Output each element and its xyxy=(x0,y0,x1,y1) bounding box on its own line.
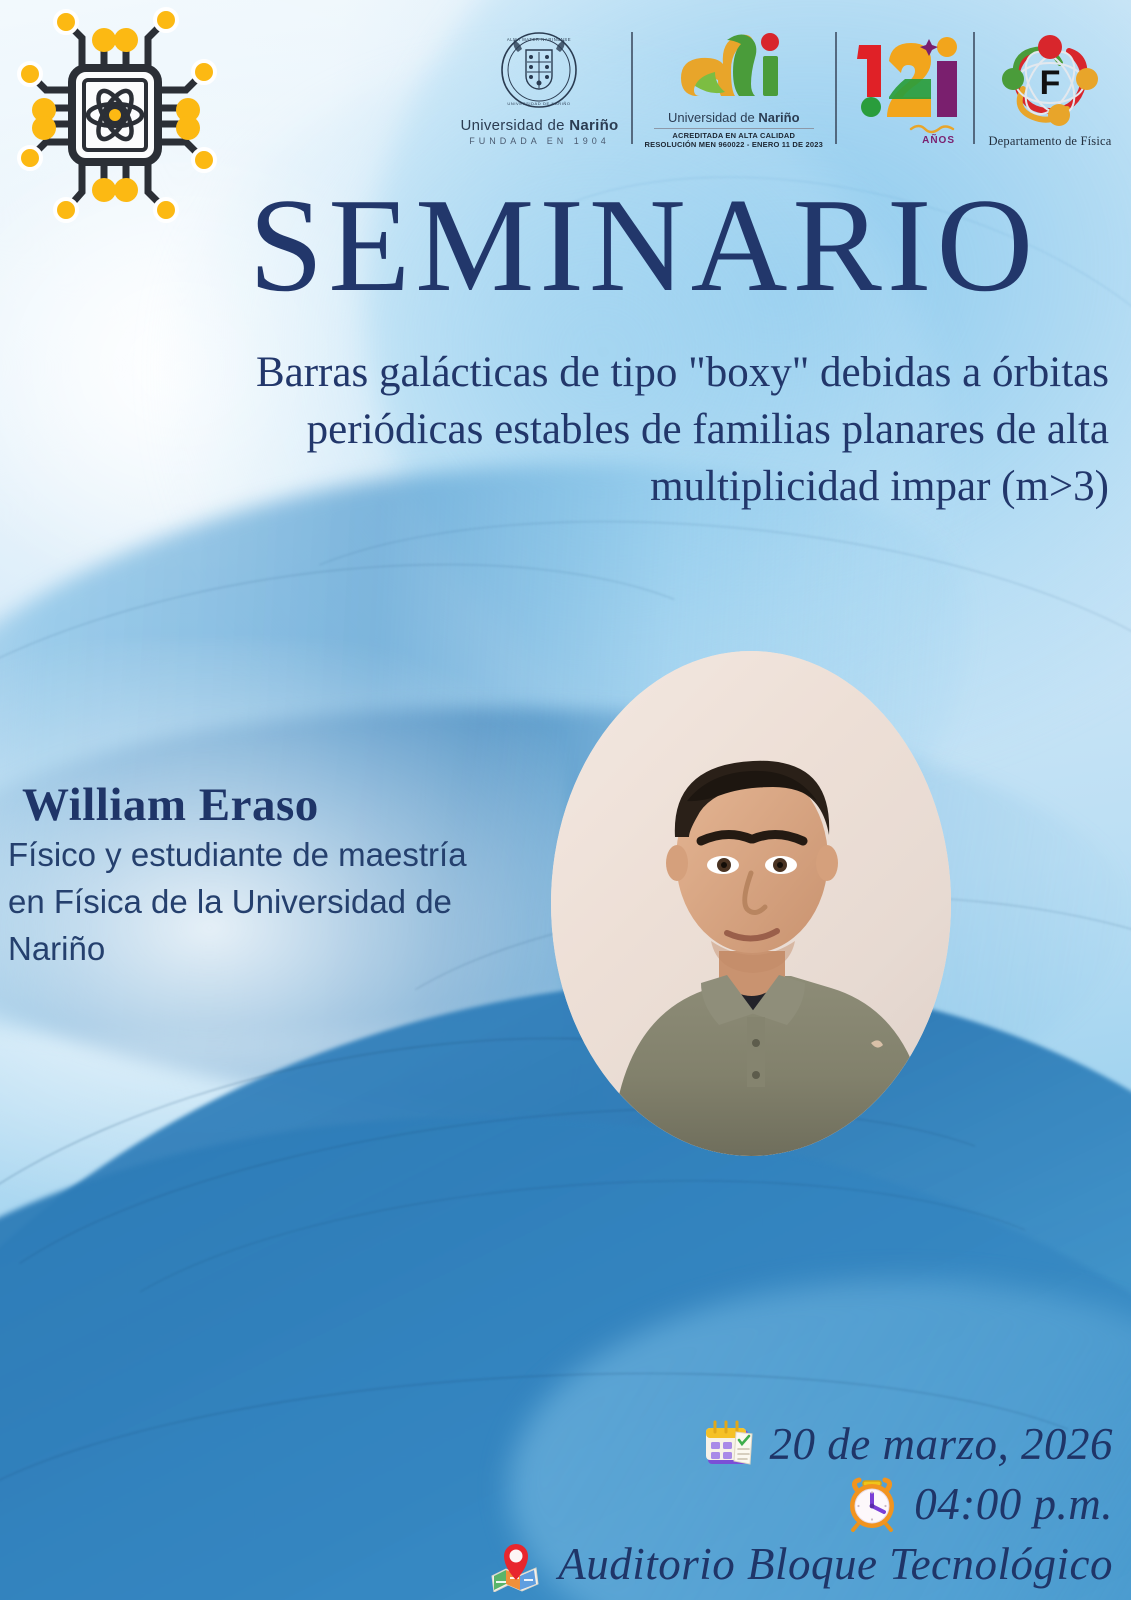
speaker-photo xyxy=(551,651,951,1156)
anniversary-years-label: AÑOS xyxy=(922,135,955,146)
microchip-atom-icon xyxy=(6,4,256,224)
event-time-text: 04:00 p.m. xyxy=(914,1478,1113,1530)
physics-department-logo: F Departamento de Física xyxy=(975,8,1125,168)
speaker-portrait-illustration xyxy=(551,651,951,1156)
crest-name-bold: Nariño xyxy=(569,117,618,134)
physics-atom-icon: F xyxy=(987,27,1113,133)
event-location-row: Auditorio Bloque Tecnológico xyxy=(488,1536,1113,1592)
accreditation-logo: Universidad de Nariño ACREDITADA EN ALTA… xyxy=(633,8,835,168)
seminar-poster: ALMA MATER NARIÑENSE UNIVERSIDAD DE NARI… xyxy=(0,0,1131,1600)
logo-bar: ALMA MATER NARIÑENSE UNIVERSIDAD DE NARI… xyxy=(0,0,1131,175)
121-anniversary-icon xyxy=(849,31,961,139)
accreditation-name-light: Universidad xyxy=(668,110,740,125)
event-time-row: 04:00 p.m. xyxy=(844,1476,1113,1532)
subtitle-line: multiplicidad impar (m>3) xyxy=(95,459,1109,516)
svg-text:ALMA MATER NARIÑENSE: ALMA MATER NARIÑENSE xyxy=(507,37,571,42)
subtitle-line: periódicas estables de familias planares… xyxy=(95,402,1109,459)
anniversary-logo: AÑOS xyxy=(837,8,973,168)
svg-text:UNIVERSIDAD DE NARIÑO: UNIVERSIDAD DE NARIÑO xyxy=(508,101,571,106)
logo-divider xyxy=(835,32,837,144)
map-pin-icon xyxy=(488,1536,544,1592)
accreditation-line-2: RESOLUCIÓN MEN 960022 - ENERO 11 DE 2023 xyxy=(645,140,823,149)
speaker-description: Físico y estudiante de maestría en Físic… xyxy=(8,832,508,973)
accreditation-name-de: de xyxy=(740,110,758,125)
crest-name-de: de xyxy=(547,117,569,134)
physics-letter: F xyxy=(1040,64,1061,102)
event-date-row: 20 de marzo, 2026 xyxy=(700,1416,1114,1472)
physics-department-label: Departamento de Física xyxy=(988,134,1111,149)
ai-accreditation-icon xyxy=(675,28,793,108)
university-crest-icon: ALMA MATER NARIÑENSE UNIVERSIDAD DE NARI… xyxy=(496,30,582,114)
accreditation-rule xyxy=(654,128,814,129)
crest-founded-label: FUNDADA EN 1904 xyxy=(469,136,610,146)
crest-name-light: Universidad xyxy=(460,117,547,134)
calendar-icon xyxy=(700,1416,756,1472)
poster-subtitle: Barras galácticas de tipo "boxy" debidas… xyxy=(95,345,1109,515)
logo-divider xyxy=(973,32,975,144)
subtitle-line: Barras galácticas de tipo "boxy" debidas… xyxy=(95,345,1109,402)
event-details: 20 de marzo, 2026 xyxy=(488,1416,1113,1592)
university-crest-logo: ALMA MATER NARIÑENSE UNIVERSIDAD DE NARI… xyxy=(448,8,630,168)
speaker-name: William Eraso xyxy=(22,778,319,832)
event-date-text: 20 de marzo, 2026 xyxy=(770,1418,1114,1470)
institution-logos: ALMA MATER NARIÑENSE UNIVERSIDAD DE NARI… xyxy=(448,8,1125,168)
accreditation-line-1: ACREDITADA EN ALTA CALIDAD xyxy=(672,131,795,140)
accreditation-name-bold: Nariño xyxy=(758,110,799,125)
alarm-clock-icon xyxy=(844,1476,900,1532)
logo-divider xyxy=(631,32,633,144)
event-location-text: Auditorio Bloque Tecnológico xyxy=(558,1538,1113,1590)
